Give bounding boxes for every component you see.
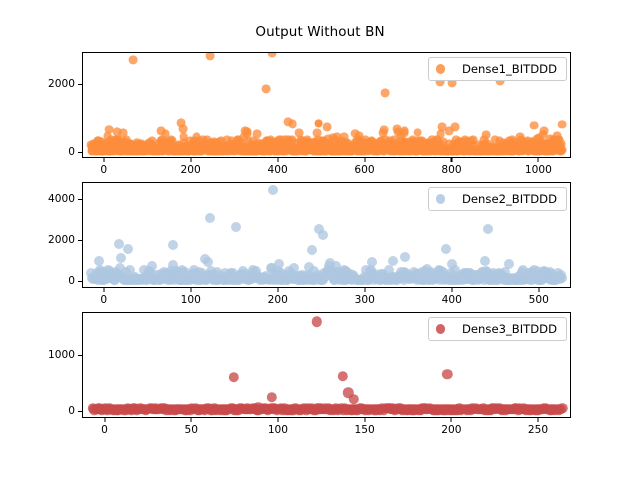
y-axis-tick-label: 4000 bbox=[20, 193, 75, 205]
scatter-point bbox=[129, 56, 138, 65]
scatter-point bbox=[338, 371, 348, 381]
scatter-point bbox=[274, 259, 284, 269]
x-axis-tick-label: 250 bbox=[528, 424, 548, 436]
x-axis-tick-label: 0 bbox=[100, 294, 107, 306]
x-axis-tick bbox=[190, 158, 191, 162]
scatter-point bbox=[380, 126, 389, 135]
scatter-point bbox=[114, 239, 124, 249]
y-axis-tick bbox=[78, 281, 82, 282]
subplot-panel-1: Dense1_BITDDD bbox=[82, 52, 571, 158]
page-title: Output Without BN bbox=[0, 24, 640, 40]
scatter-point bbox=[388, 256, 398, 266]
scatter-point bbox=[268, 185, 278, 195]
scatter-point bbox=[558, 120, 567, 129]
scatter-point bbox=[530, 121, 539, 130]
scatter-point bbox=[557, 403, 567, 413]
x-axis-tick bbox=[364, 418, 365, 422]
y-axis-tick bbox=[78, 152, 82, 153]
x-axis-tick-label: 150 bbox=[355, 424, 375, 436]
scatter-point bbox=[307, 245, 317, 255]
scatter-point bbox=[557, 146, 566, 155]
x-axis-tick-label: 100 bbox=[268, 424, 288, 436]
y-axis-tick bbox=[78, 84, 82, 85]
scatter-point bbox=[206, 52, 215, 61]
x-axis-tick bbox=[190, 288, 191, 292]
x-axis-tick-label: 300 bbox=[355, 294, 375, 306]
scatter-point bbox=[94, 256, 104, 266]
x-axis-tick bbox=[451, 288, 452, 292]
x-axis-tick-label: 400 bbox=[442, 294, 462, 306]
scatter-point bbox=[557, 273, 567, 283]
scatter-point bbox=[123, 244, 133, 254]
y-axis-tick bbox=[78, 240, 82, 241]
x-axis-tick-label: 600 bbox=[354, 164, 374, 176]
x-axis-tick-label: 400 bbox=[267, 164, 287, 176]
legend-marker-icon bbox=[436, 324, 446, 334]
legend-panel-2[interactable]: Dense2_BITDDD bbox=[428, 187, 568, 211]
x-axis-tick-label: 200 bbox=[181, 164, 201, 176]
y-axis-tick bbox=[78, 411, 82, 412]
x-axis-tick bbox=[103, 288, 104, 292]
x-axis-tick-label: 100 bbox=[181, 294, 201, 306]
x-axis-tick bbox=[451, 418, 452, 422]
x-axis-tick-label: 0 bbox=[100, 164, 107, 176]
scatter-point bbox=[400, 252, 410, 262]
x-axis-tick bbox=[103, 158, 104, 162]
x-axis-tick bbox=[451, 158, 452, 162]
scatter-point bbox=[451, 122, 460, 131]
scatter-point bbox=[381, 88, 390, 97]
scatter-point bbox=[441, 244, 451, 254]
subplot-panel-3: Dense3_BITDDD bbox=[82, 312, 571, 418]
scatter-point bbox=[483, 224, 493, 234]
scatter-point bbox=[229, 372, 239, 382]
scatter-point bbox=[231, 222, 241, 232]
y-axis-tick-label: 2000 bbox=[20, 234, 75, 246]
scatter-point bbox=[253, 130, 262, 139]
x-axis-tick bbox=[277, 288, 278, 292]
x-axis-tick-label: 200 bbox=[268, 294, 288, 306]
y-axis-tick-label: 1000 bbox=[20, 349, 75, 361]
scatter-point bbox=[322, 122, 331, 131]
y-axis-tick bbox=[78, 199, 82, 200]
scatter-point bbox=[267, 392, 277, 402]
scatter-point bbox=[400, 126, 409, 135]
subplot-panel-2: Dense2_BITDDD bbox=[82, 182, 571, 288]
scatter-point bbox=[481, 131, 490, 140]
x-axis-tick bbox=[364, 158, 365, 162]
legend-marker-icon bbox=[436, 64, 446, 74]
legend-label-dense3: Dense3_BITDDD bbox=[462, 322, 557, 336]
scatter-point bbox=[504, 259, 514, 269]
scatter-point bbox=[262, 85, 271, 94]
scatter-point bbox=[367, 257, 377, 267]
x-axis-tick bbox=[538, 288, 539, 292]
scatter-point bbox=[168, 240, 178, 250]
x-axis-tick-label: 1000 bbox=[525, 164, 552, 176]
x-axis-tick-label: 0 bbox=[101, 424, 108, 436]
legend-panel-1[interactable]: Dense1_BITDDD bbox=[428, 57, 568, 81]
scatter-point bbox=[312, 316, 322, 326]
legend-label-dense2: Dense2_BITDDD bbox=[462, 192, 557, 206]
y-axis-tick-label: 0 bbox=[20, 405, 75, 417]
scatter-point bbox=[480, 256, 490, 266]
legend-label-dense1: Dense1_BITDDD bbox=[462, 62, 557, 76]
x-axis-tick bbox=[277, 158, 278, 162]
x-axis-tick bbox=[538, 158, 539, 162]
scatter-point bbox=[314, 119, 323, 128]
scatter-point bbox=[268, 52, 277, 57]
scatter-point bbox=[205, 213, 215, 223]
x-axis-tick bbox=[364, 288, 365, 292]
legend-panel-3[interactable]: Dense3_BITDDD bbox=[428, 317, 568, 341]
x-axis-tick bbox=[538, 418, 539, 422]
y-axis-tick-label: 2000 bbox=[20, 78, 75, 90]
y-axis-tick-label: 0 bbox=[20, 146, 75, 158]
scatter-point bbox=[318, 230, 328, 240]
legend-marker-icon bbox=[436, 194, 446, 204]
scatter-point bbox=[116, 253, 126, 263]
x-axis-tick bbox=[191, 418, 192, 422]
figure-canvas: Output Without BN Dense1_BITDDD Dense2_B… bbox=[0, 0, 640, 480]
x-axis-tick-label: 200 bbox=[441, 424, 461, 436]
x-axis-tick bbox=[277, 418, 278, 422]
scatter-point bbox=[442, 369, 452, 379]
scatter-point bbox=[288, 120, 297, 129]
x-axis-tick-label: 800 bbox=[441, 164, 461, 176]
y-axis-tick-label: 0 bbox=[20, 275, 75, 287]
x-axis-tick-label: 50 bbox=[184, 424, 197, 436]
y-axis-tick bbox=[78, 355, 82, 356]
x-axis-tick-label: 500 bbox=[529, 294, 549, 306]
x-axis-tick bbox=[104, 418, 105, 422]
